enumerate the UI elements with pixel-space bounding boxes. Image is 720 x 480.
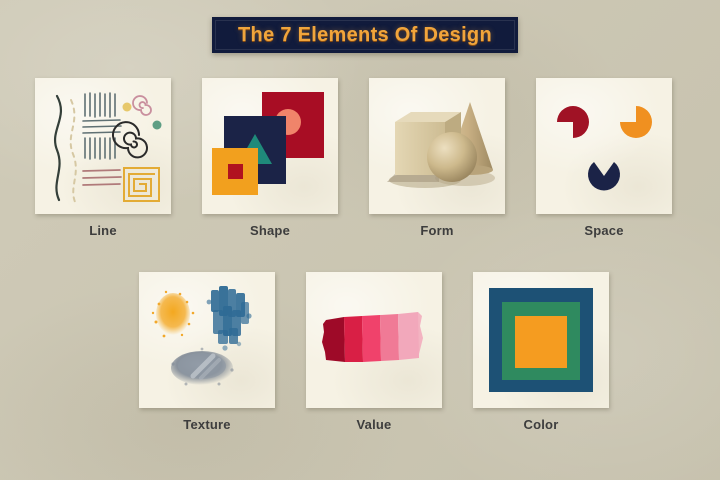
color-card-frame: [473, 272, 609, 408]
element-label-form: Form: [369, 223, 505, 238]
title-banner: The 7 Elements Of Design: [212, 17, 518, 53]
value-swatch-strip: [322, 312, 423, 362]
color-artwork: [473, 272, 609, 408]
element-card-form[interactable]: Form: [369, 78, 505, 238]
poster-background: The 7 Elements Of Design: [0, 0, 720, 480]
element-label-texture: Texture: [139, 417, 275, 432]
texture-card-frame: [139, 272, 275, 408]
page-title: The 7 Elements Of Design: [238, 24, 492, 47]
line-card-frame: [35, 78, 171, 214]
value-card-frame: [306, 272, 442, 408]
value-artwork: [306, 272, 442, 408]
space-card-frame: [536, 78, 672, 214]
element-card-texture[interactable]: Texture: [139, 272, 275, 432]
element-card-line[interactable]: Line: [35, 78, 171, 238]
element-card-shape[interactable]: Shape: [202, 78, 338, 238]
shape-artwork: [202, 78, 338, 214]
element-label-color: Color: [473, 417, 609, 432]
element-label-value: Value: [306, 417, 442, 432]
element-card-color[interactable]: Color: [473, 272, 609, 432]
element-card-space[interactable]: Space: [536, 78, 672, 238]
element-card-value[interactable]: Value: [306, 272, 442, 432]
element-label-shape: Shape: [202, 223, 338, 238]
form-card-frame: [369, 78, 505, 214]
form-artwork: [369, 78, 505, 214]
line-artwork: [35, 78, 171, 214]
element-label-line: Line: [35, 223, 171, 238]
space-artwork: [536, 78, 672, 214]
shape-card-frame: [202, 78, 338, 214]
element-label-space: Space: [536, 223, 672, 238]
texture-artwork: [139, 272, 275, 408]
